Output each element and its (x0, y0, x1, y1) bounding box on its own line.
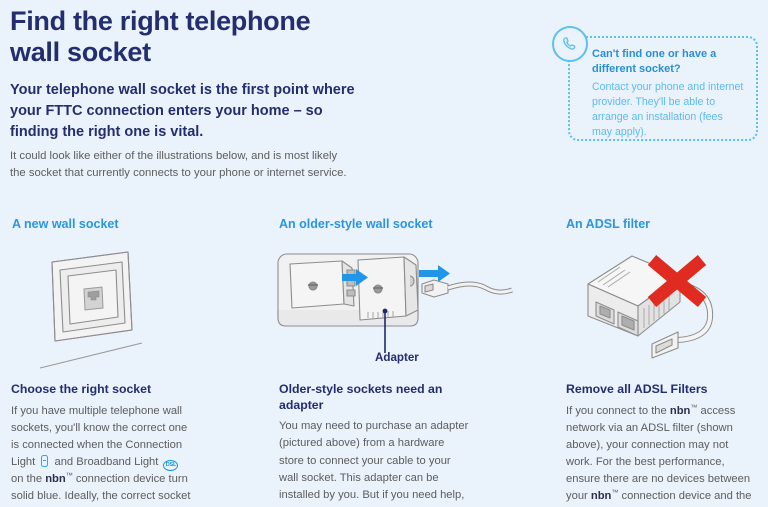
column-heading-remove-filters: Remove all ADSL Filters (566, 382, 758, 398)
trademark-symbol: ™ (66, 472, 73, 479)
page-title: Find the right telephone wall socket (10, 6, 360, 69)
column-body-remove-filters: If you connect to the nbn™ access networ… (566, 403, 758, 507)
body-text: You may need to purchase an adapter (pic… (279, 420, 468, 507)
body-text: on the (11, 473, 45, 485)
nbn-brand: nbn (670, 405, 691, 417)
adapter-annotation-label: Adapter (375, 351, 419, 364)
page-note: It could look like either of the illustr… (10, 148, 355, 182)
nbn-brand: nbn (591, 490, 612, 502)
new-wall-socket-illustration (10, 240, 260, 375)
body-text: and Broadband Light (51, 456, 161, 468)
adsl-filter-illustration (560, 240, 765, 375)
body-text: If you connect to the (566, 405, 670, 417)
column-adsl-filter: Remove all ADSL Filters If you connect t… (566, 382, 758, 507)
column-body-choose-socket: If you have multiple telephone wall sock… (11, 403, 196, 507)
column-older-socket: Older-style sockets need an adapter You … (279, 382, 469, 507)
column-body-older-sockets: You may need to purchase an adapter (pic… (279, 418, 469, 507)
illustration-label-older-socket: An older-style wall socket (279, 217, 433, 231)
telephone-handset-icon (552, 26, 588, 62)
body-text: access network via an ADSL filter (shown… (566, 405, 750, 502)
callout-body: Contact your phone and internet provider… (592, 80, 744, 140)
dsl-light-icon: DSL (163, 460, 178, 471)
column-heading-choose-socket: Choose the right socket (11, 382, 196, 398)
page-root: Find the right telephone wall socket You… (0, 0, 768, 507)
connection-light-icon (41, 455, 48, 467)
column-heading-older-sockets: Older-style sockets need an adapter (279, 382, 469, 413)
column-new-socket: Choose the right socket If you have mult… (11, 382, 196, 507)
callout-title: Can't find one or have a different socke… (592, 47, 744, 77)
illustration-label-adsl-filter: An ADSL filter (566, 217, 650, 231)
help-callout-box: Can't find one or have a different socke… (568, 36, 758, 141)
illustration-label-new-socket: A new wall socket (12, 217, 119, 231)
nbn-brand: nbn (45, 473, 66, 485)
page-subtitle: Your telephone wall socket is the first … (10, 80, 370, 143)
